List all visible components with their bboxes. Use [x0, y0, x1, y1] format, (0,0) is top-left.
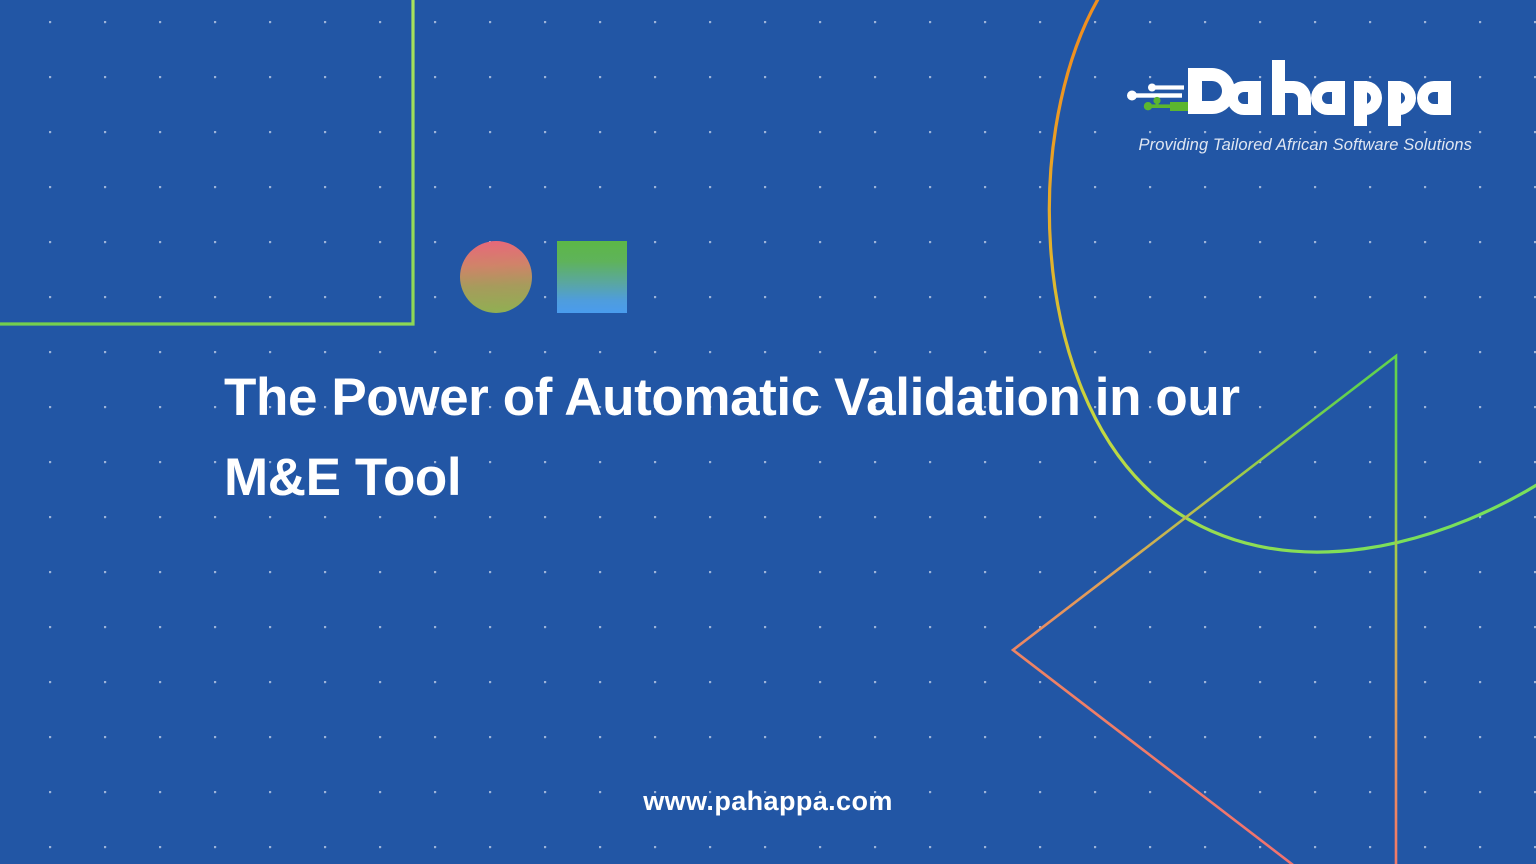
pahappa-wordmark: [1182, 54, 1472, 132]
top-left-green-bracket: [0, 0, 413, 324]
slide-headline: The Power of Automatic Validation in our…: [224, 358, 1284, 518]
presentation-slide: Providing Tailored African Software Solu…: [0, 0, 1536, 864]
brand-logo: Providing Tailored African Software Solu…: [1126, 54, 1472, 155]
gradient-circle: [460, 241, 532, 313]
gradient-shapes-row: [460, 237, 700, 319]
brand-tagline: Providing Tailored African Software Solu…: [1126, 136, 1472, 155]
gradient-square: [557, 241, 627, 313]
footer-website-url: www.pahappa.com: [0, 786, 1536, 817]
